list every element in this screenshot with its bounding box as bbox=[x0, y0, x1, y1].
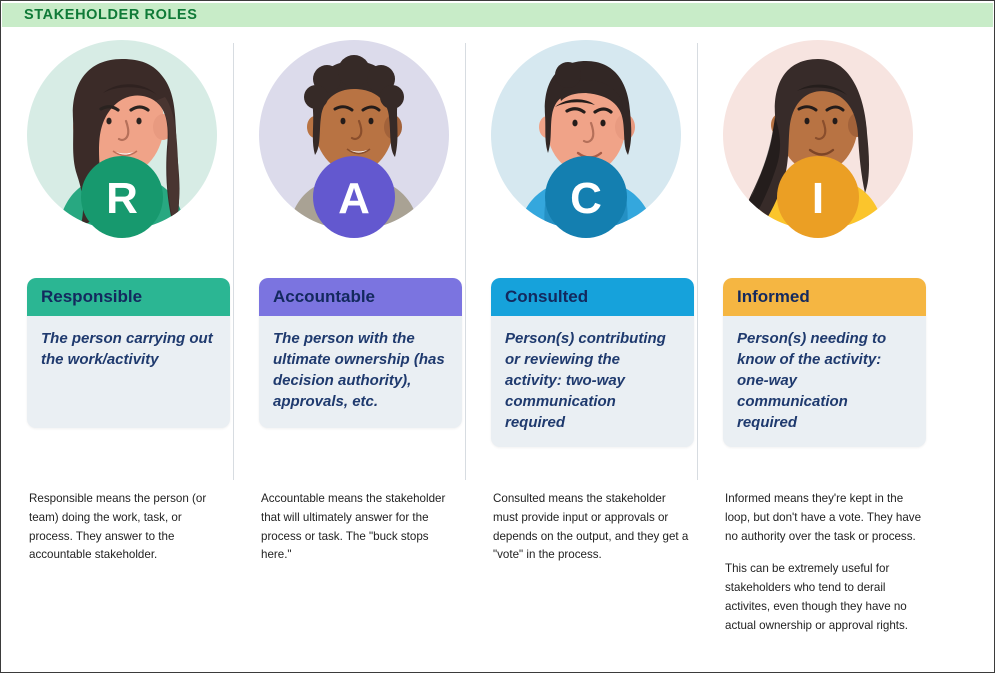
role-card-description: Person(s) contributing or reviewing the … bbox=[491, 316, 694, 447]
role-card-title: Accountable bbox=[273, 287, 375, 307]
role-card-header: Informed bbox=[723, 278, 926, 316]
role-column-consulted: C Consulted Person(s) contributing or re… bbox=[465, 35, 697, 665]
role-notes-consulted: Consulted means the stakeholder must pro… bbox=[493, 490, 689, 565]
note-paragraph: Responsible means the person (or team) d… bbox=[29, 490, 225, 565]
page-title: STAKEHOLDER ROLES bbox=[24, 7, 197, 23]
role-card-header: Responsible bbox=[27, 278, 230, 316]
role-card-accountable: Accountable The person with the ultimate… bbox=[259, 278, 462, 428]
role-card-responsible: Responsible The person carrying out the … bbox=[27, 278, 230, 428]
avatar-man-short-hair-blue-shirt: C bbox=[491, 35, 681, 247]
role-column-informed: I Informed Person(s) needing to know of … bbox=[697, 35, 929, 665]
role-card-consulted: Consulted Person(s) contributing or revi… bbox=[491, 278, 694, 447]
note-paragraph: Informed means they're kept in the loop,… bbox=[725, 490, 921, 546]
avatar-person-curly-hair-shirt-tie: A bbox=[259, 35, 449, 247]
role-badge-letter: C bbox=[570, 174, 602, 223]
role-badge-letter: A bbox=[338, 174, 370, 223]
note-paragraph: Consulted means the stakeholder must pro… bbox=[493, 490, 689, 565]
note-paragraph: Accountable means the stakeholder that w… bbox=[261, 490, 457, 565]
avatar-woman-long-hair-yellow-top: I bbox=[723, 35, 913, 247]
role-card-informed: Informed Person(s) needing to know of th… bbox=[723, 278, 926, 447]
role-card-header: Accountable bbox=[259, 278, 462, 316]
role-notes-accountable: Accountable means the stakeholder that w… bbox=[261, 490, 457, 565]
stakeholder-roles-page: STAKEHOLDER ROLES bbox=[0, 0, 995, 673]
role-badge-letter: I bbox=[812, 174, 824, 223]
role-card-description: Person(s) needing to know of the activit… bbox=[723, 316, 926, 447]
role-notes-responsible: Responsible means the person (or team) d… bbox=[29, 490, 225, 565]
role-card-header: Consulted bbox=[491, 278, 694, 316]
avatar-woman-long-dark-hair-green-top: R bbox=[27, 35, 217, 247]
page-header: STAKEHOLDER ROLES bbox=[2, 3, 993, 27]
role-card-description: The person with the ultimate ownership (… bbox=[259, 316, 462, 428]
note-paragraph: This can be extremely useful for stakeho… bbox=[725, 560, 921, 635]
role-card-title: Consulted bbox=[505, 287, 588, 307]
role-card-title: Informed bbox=[737, 287, 810, 307]
roles-columns: R Responsible The person carrying out th… bbox=[1, 35, 996, 665]
role-column-responsible: R Responsible The person carrying out th… bbox=[1, 35, 233, 665]
role-card-title: Responsible bbox=[41, 287, 142, 307]
role-badge-letter: R bbox=[106, 174, 138, 223]
role-column-accountable: A Accountable The person with the ultima… bbox=[233, 35, 465, 665]
role-card-description: The person carrying out the work/activit… bbox=[27, 316, 230, 428]
role-notes-informed: Informed means they're kept in the loop,… bbox=[725, 490, 921, 635]
